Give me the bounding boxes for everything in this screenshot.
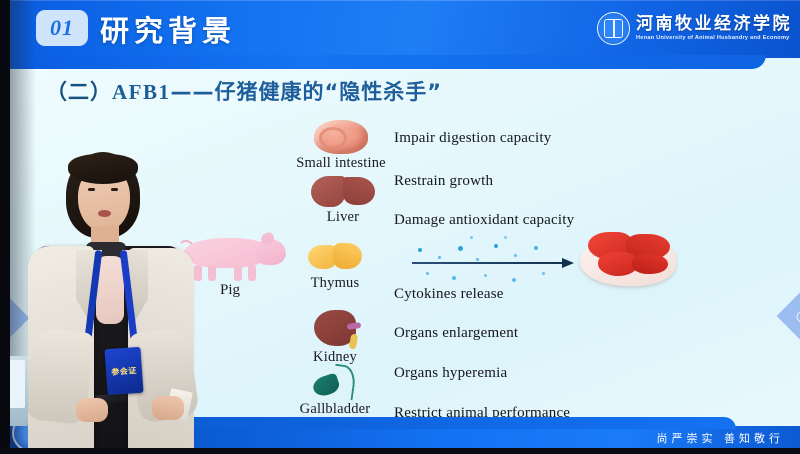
section-number-badge: 01 (36, 10, 88, 46)
organ-item-thymus: Thymus (280, 238, 390, 292)
conference-badge-text: 参会证 (111, 365, 137, 378)
effect-item: Organs hyperemia (394, 365, 507, 382)
particle-dot (426, 272, 429, 275)
effect-item: Restrain growth (394, 173, 493, 190)
particle-dot (504, 236, 507, 239)
effect-item: Cytokines release (394, 286, 504, 303)
organ-label: Gallbladder (280, 401, 390, 418)
gallbladder-icon (280, 364, 390, 402)
particle-dot (452, 276, 456, 280)
particle-dot (418, 248, 422, 252)
organ-label: Small intestine (286, 155, 396, 172)
thymus-icon (280, 238, 390, 276)
kidney-icon (280, 306, 390, 350)
subtitle-term: AFB1 (112, 80, 171, 104)
raw-meat-icon (580, 232, 676, 288)
university-name-cn: 河南牧业经济学院 (636, 16, 792, 33)
organ-item-kidney: Kidney (280, 306, 390, 366)
particle-dot (458, 246, 463, 251)
screenshot-stage: 01 研究背景 河南牧业经济学院 Henan University of Ani… (0, 0, 800, 454)
particle-dot (484, 274, 487, 277)
particle-dot (512, 278, 516, 282)
university-logo-text: 河南牧业经济学院 Henan University of Animal Husb… (636, 16, 792, 42)
room-edge-left (0, 0, 10, 454)
particle-dot (514, 254, 517, 257)
particle-dot (476, 258, 479, 261)
liver-icon (288, 172, 398, 210)
organ-label: Liver (288, 209, 398, 226)
particle-dot (438, 256, 441, 259)
footer-motto: 尚严崇实 善知敬行 (657, 430, 785, 446)
presenter-person: 参会证 (10, 150, 210, 454)
particle-dot (494, 244, 498, 248)
organ-item-small-intestine: Small intestine (286, 118, 396, 172)
effect-item: Damage antioxidant capacity (394, 212, 574, 229)
effect-item: Organs enlargement (394, 325, 518, 342)
university-logo: 河南牧业经济学院 Henan University of Animal Husb… (597, 12, 792, 45)
small-intestine-icon (286, 118, 396, 156)
organ-item-gallbladder: Gallbladder (280, 364, 390, 418)
room-edge-bottom (0, 448, 800, 454)
conference-badge: 参会证 (104, 347, 143, 395)
organ-label: Thymus (280, 275, 390, 292)
slide-subtitle: （二）AFB1——仔猪健康的“隐性杀手” (46, 76, 442, 106)
slide-header: 01 研究背景 河南牧业经济学院 Henan University of Ani… (6, 0, 800, 58)
university-name-en: Henan University of Animal Husbandry and… (636, 36, 792, 42)
diamond-decoration-icon (777, 291, 800, 342)
particle-dot (470, 236, 473, 239)
page-title: 研究背景 (100, 8, 236, 50)
subtitle-rest: ——仔猪健康的“隐性杀手” (171, 80, 443, 104)
particle-dot (542, 272, 545, 275)
organ-item-liver: Liver (288, 172, 398, 226)
university-seal-icon (597, 12, 630, 45)
subtitle-prefix: （二） (46, 80, 112, 104)
right-arrow-icon (412, 262, 572, 264)
particle-dot (534, 246, 538, 250)
effect-item: Impair digestion capacity (394, 130, 551, 147)
